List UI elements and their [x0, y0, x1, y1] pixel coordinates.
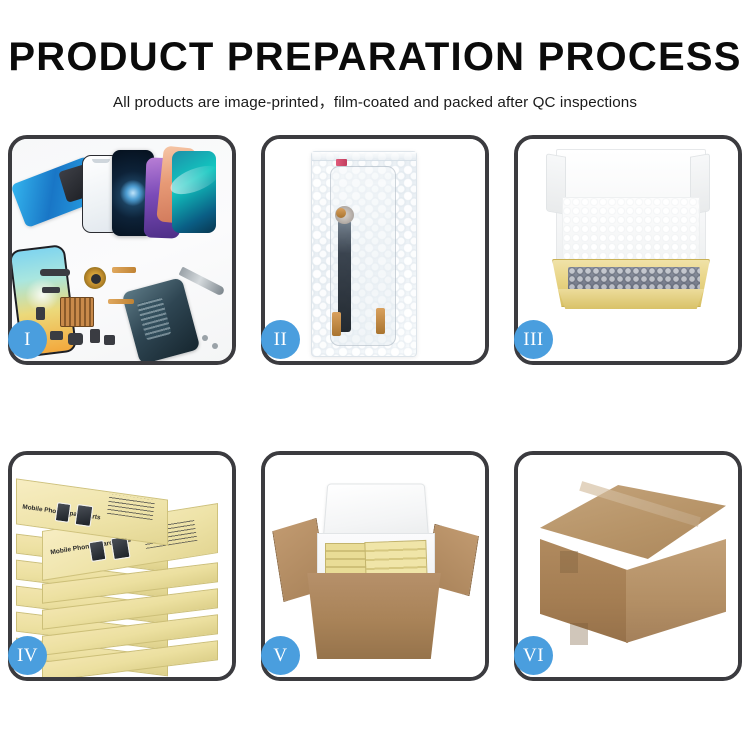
small-part-icon-1	[36, 307, 45, 320]
pink-label-tab-icon	[336, 159, 347, 166]
process-step-panel-3[interactable]: III	[514, 135, 742, 365]
step-4-image: Mobile Phone Spare Parts Mobile Phone Sp…	[12, 455, 232, 677]
yellow-box-front-icon	[558, 289, 704, 309]
small-part-icon-7	[42, 287, 60, 293]
step-badge-5: V	[261, 636, 300, 675]
bubble-wrap-bag-icon	[311, 151, 417, 357]
step-badge-3: III	[514, 320, 553, 359]
speaker-coil-icon	[84, 267, 106, 289]
connector-icon-left	[332, 312, 341, 336]
product-preparation-process-page: PRODUCT PREPARATION PROCESS All products…	[0, 0, 750, 750]
small-part-icon-4	[90, 329, 100, 343]
page-header: PRODUCT PREPARATION PROCESS All products…	[0, 0, 750, 112]
step-badge-4: IV	[8, 636, 47, 675]
process-step-panel-6[interactable]: VI	[514, 451, 742, 681]
process-step-panel-1[interactable]: I	[8, 135, 236, 365]
step-badge-6: VI	[514, 636, 553, 675]
connector-icon-right	[376, 308, 385, 334]
earpiece-mesh-icon	[40, 269, 70, 276]
box-thumbnail-1b	[75, 504, 94, 527]
bag-seal-icon	[312, 152, 416, 161]
process-step-panel-2[interactable]: II	[261, 135, 489, 365]
screw-icon-2	[212, 343, 218, 349]
small-part-icon-2	[50, 331, 63, 340]
screw-icon-1	[202, 335, 208, 341]
box-thumbnail-2a	[89, 540, 107, 562]
step-3-image	[518, 139, 738, 361]
carton-tab-icon-top	[560, 551, 578, 573]
small-part-icon-5	[104, 335, 115, 345]
step-badge-2: II	[261, 320, 300, 359]
teal-phone-screen-icon	[172, 151, 216, 233]
tweezers-icon	[179, 267, 226, 297]
step-5-image	[265, 455, 485, 677]
step-6-image	[518, 455, 738, 677]
process-step-panel-5[interactable]: V	[261, 451, 489, 681]
chip-grid-icon	[60, 297, 94, 327]
process-step-panel-4[interactable]: Mobile Phone Spare Parts Mobile Phone Sp…	[8, 451, 236, 681]
step-2-image	[265, 139, 485, 361]
step-1-image	[12, 139, 232, 361]
carton-tab-icon-bottom	[570, 623, 588, 645]
phone-backplate-icon	[121, 277, 200, 361]
process-steps-grid: I II	[8, 135, 742, 681]
small-part-icon-3	[68, 333, 83, 345]
camera-module-icon	[336, 208, 346, 218]
page-subtitle: All products are image-printed，film-coat…	[0, 90, 750, 112]
box-thumbnail-1a	[55, 502, 72, 523]
flex-cable-icon-2	[108, 299, 134, 304]
carton-body-icon	[303, 573, 445, 659]
flex-cable-icon-1	[112, 267, 136, 273]
step-badge-1: I	[8, 320, 47, 359]
page-title: PRODUCT PREPARATION PROCESS	[0, 36, 750, 78]
